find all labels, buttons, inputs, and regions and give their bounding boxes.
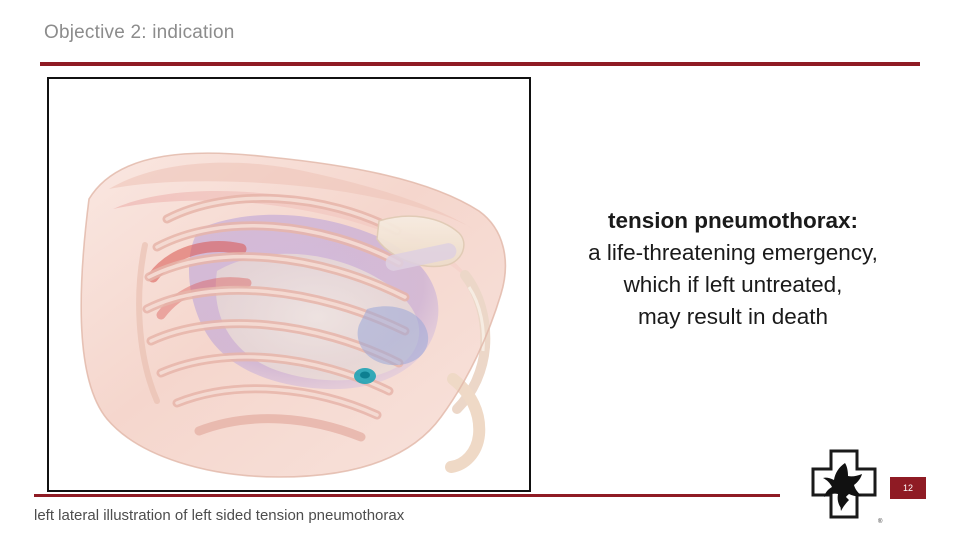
eagle-cross-logo (805, 447, 883, 531)
image-caption: left lateral illustration of left sided … (34, 507, 404, 524)
slide: Objective 2: indication (0, 0, 960, 540)
bottom-divider (34, 494, 780, 497)
page-number: 12 (890, 477, 926, 499)
caption-line-2: a life-threatening emergency, (533, 237, 933, 269)
caption-line-4: may result in death (533, 301, 933, 333)
page-title: Objective 2: indication (44, 22, 234, 44)
caption-line-3: which if left untreated, (533, 269, 933, 301)
thorax-illustration (49, 79, 529, 490)
caption-line-1: tension pneumothorax: (533, 205, 933, 237)
trademark-symbol: ® (878, 519, 882, 525)
main-caption: tension pneumothorax: a life-threatening… (533, 205, 933, 333)
illustration-frame (47, 77, 531, 492)
title-divider (40, 62, 920, 66)
